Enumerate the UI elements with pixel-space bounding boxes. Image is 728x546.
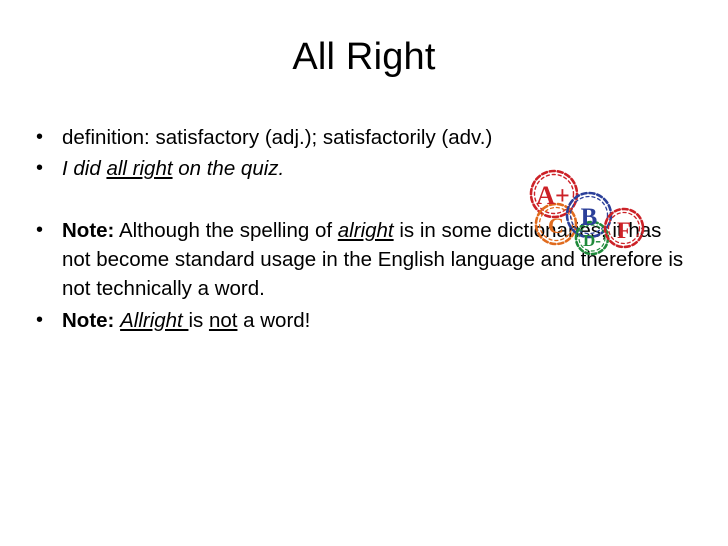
slide: All Right • definition: satisfactory (ad… bbox=[0, 0, 728, 546]
text-segment-emphasis: Allright bbox=[120, 309, 188, 332]
list-item-text: definition: satisfactory (adj.); satisfa… bbox=[62, 123, 692, 152]
bullet-marker: • bbox=[36, 306, 62, 334]
bullet-marker: • bbox=[36, 123, 62, 151]
list-item-text: Note: Allright is not a word! bbox=[62, 306, 692, 335]
text-segment-emphasis: alright bbox=[338, 219, 394, 242]
list-item: • definition: satisfactory (adj.); satis… bbox=[36, 123, 692, 152]
text-segment-label: Note: bbox=[62, 219, 114, 242]
text-segment-emphasis: all right bbox=[106, 157, 172, 180]
text-segment: on the quiz. bbox=[173, 157, 285, 180]
list-item-text: Note: Although the spelling of alright i… bbox=[62, 216, 692, 303]
text-segment: I did bbox=[62, 157, 106, 180]
bullet-list: • definition: satisfactory (adj.); satis… bbox=[36, 123, 692, 337]
list-item: • Note: Allright is not a word! bbox=[36, 306, 692, 335]
list-item: • I did all right on the quiz. bbox=[36, 154, 692, 183]
page-title: All Right bbox=[0, 36, 728, 79]
text-segment-label: Note: bbox=[62, 309, 114, 332]
text-segment: definition: satisfactory (adj.); satisfa… bbox=[62, 126, 492, 149]
text-segment: is bbox=[188, 309, 209, 332]
list-item: • Note: Although the spelling of alright… bbox=[36, 216, 692, 303]
text-segment: Although the spelling of bbox=[114, 219, 337, 242]
text-segment-emphasis: not bbox=[209, 309, 238, 332]
bullet-marker: • bbox=[36, 154, 62, 182]
bullet-marker: • bbox=[36, 216, 62, 244]
list-spacer bbox=[36, 185, 692, 216]
text-segment: a word! bbox=[237, 309, 310, 332]
list-item-text: I did all right on the quiz. bbox=[62, 154, 692, 183]
